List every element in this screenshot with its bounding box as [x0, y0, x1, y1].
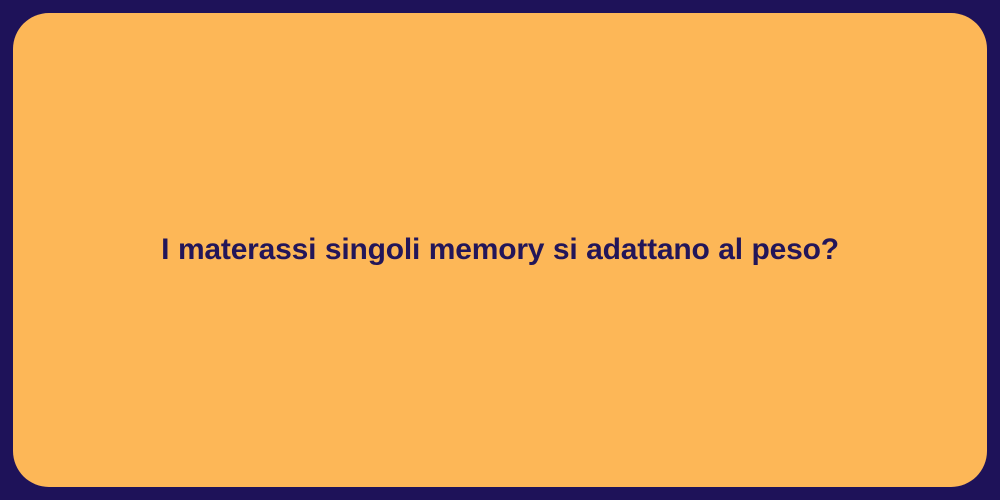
question-card: I materassi singoli memory si adattano a… — [13, 13, 987, 487]
question-title: I materassi singoli memory si adattano a… — [53, 230, 947, 271]
question-card-content: I materassi singoli memory si adattano a… — [13, 230, 987, 271]
page-frame: I materassi singoli memory si adattano a… — [0, 0, 1000, 500]
